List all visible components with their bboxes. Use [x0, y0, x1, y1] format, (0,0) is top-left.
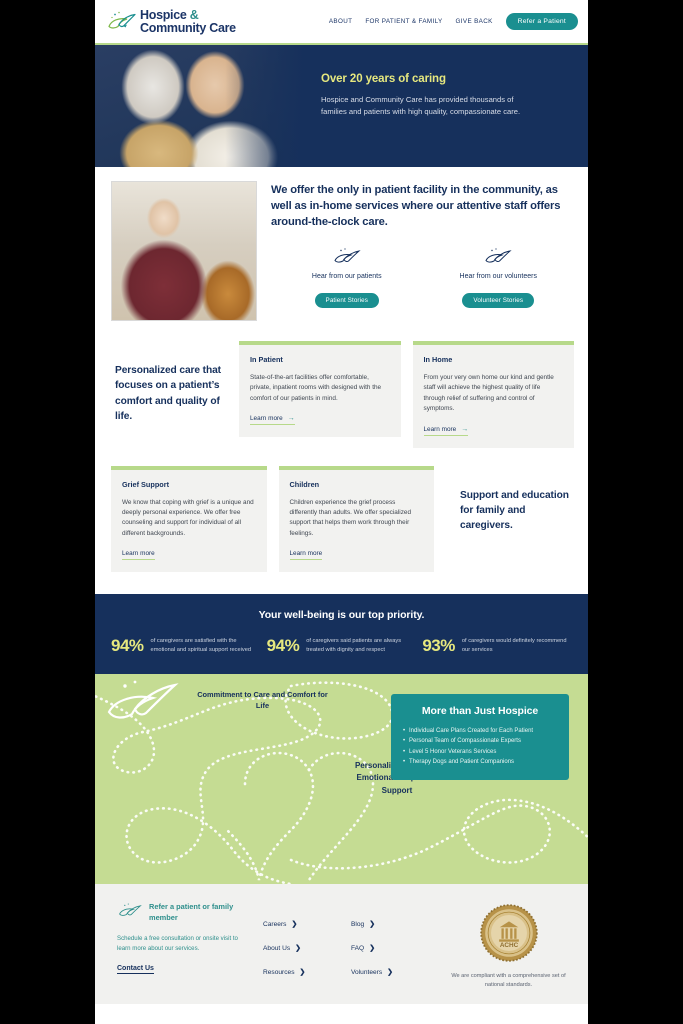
hero-text: Over 20 years of caring Hospice and Comm…	[305, 45, 549, 167]
stat-text: of caregivers would definitely recommend…	[462, 637, 572, 655]
hero-title: Over 20 years of caring	[321, 73, 531, 85]
more-box-item: Personal Team of Compassionate Experts	[403, 736, 557, 746]
stories-cta-row: Hear from our patients Patient Stories H…	[271, 247, 574, 308]
card-in-patient[interactable]: In Patient State-of-the-art facilities o…	[239, 341, 401, 437]
seal-text: ACHC	[499, 942, 518, 949]
hero-banner: Over 20 years of caring Hospice and Comm…	[95, 45, 588, 167]
hero-photo	[95, 45, 305, 167]
patient-stories-label: Hear from our patients	[271, 272, 423, 282]
card-title: In Home	[424, 355, 564, 364]
learn-more-label: Learn more	[250, 415, 283, 422]
main-nav: ABOUT FOR PATIENT & FAMILY GIVE BACK Ref…	[329, 13, 578, 30]
chevron-right-icon: ❯	[387, 968, 393, 976]
footer-refer-block: Refer a patient or family member Schedul…	[117, 902, 253, 1004]
stat-item: 94% of caregivers are satisfied with the…	[111, 636, 261, 656]
learn-more-link[interactable]: Learn more	[122, 550, 155, 560]
more-box-item: Individual Care Plans Created for Each P…	[403, 726, 557, 736]
footer-refer-header: Refer a patient or family member	[117, 902, 253, 925]
offer-section: We offer the only in patient facility in…	[95, 167, 588, 341]
achc-accreditation-seal: ACHC	[480, 904, 538, 962]
learn-more-label: Learn more	[424, 426, 457, 433]
more-box-list: Individual Care Plans Created for Each P…	[403, 726, 557, 767]
footer-refer-subtext: Schedule a free consultation or onsite v…	[117, 934, 253, 954]
learn-more-label: Learn more	[122, 550, 155, 557]
services-heading-wrap: Personalized care that focuses on a pati…	[111, 341, 239, 424]
bird-swoosh-icon	[423, 247, 575, 267]
learn-more-link[interactable]: Learn more	[290, 550, 323, 560]
nav-for-patient-family[interactable]: FOR PATIENT & FAMILY	[365, 18, 442, 25]
footer-link-faq[interactable]: FAQ ❯	[351, 944, 433, 952]
more-box-item: Level 5 Honor Veterans Services	[403, 747, 557, 757]
footer-link-volunteers[interactable]: Volunteers ❯	[351, 968, 433, 976]
card-grief-support[interactable]: Grief Support We know that coping with g…	[111, 466, 267, 573]
footer-link-label: FAQ	[351, 945, 364, 952]
stat-value: 93%	[422, 636, 455, 656]
site-header: Hospice & Community Care ABOUT FOR PATIE…	[95, 0, 588, 45]
footer-links-column-2: Blog ❯ FAQ ❯ Volunteers ❯	[351, 902, 433, 1004]
stats-band: Your well-being is our top priority. 94%…	[95, 594, 588, 674]
volunteer-stories-button[interactable]: Volunteer Stories	[462, 293, 534, 308]
stat-text: of caregivers said patients are always t…	[306, 637, 416, 655]
chevron-right-icon: ❯	[291, 920, 297, 928]
card-title: Children	[290, 480, 424, 489]
card-children[interactable]: Children Children experience the grief p…	[279, 466, 435, 573]
stats-row: 94% of caregivers are satisfied with the…	[111, 636, 572, 656]
footer-links-column-1: Careers ❯ About Us ❯ Resources ❯	[263, 902, 341, 1004]
more-than-just-hospice-box: More than Just Hospice Individual Care P…	[391, 694, 569, 780]
stat-text: of caregivers are satisfied with the emo…	[151, 637, 261, 655]
stat-value: 94%	[111, 636, 144, 656]
site-footer: Refer a patient or family member Schedul…	[95, 884, 588, 1004]
more-box-item: Therapy Dogs and Patient Companions	[403, 757, 557, 767]
site-logo[interactable]: Hospice & Community Care	[107, 9, 236, 35]
nav-about[interactable]: ABOUT	[329, 18, 352, 25]
more-box-title: More than Just Hospice	[403, 705, 557, 717]
white-bird-swoosh-icon	[109, 681, 175, 718]
card-title: Grief Support	[122, 480, 256, 489]
chevron-right-icon: ❯	[295, 944, 301, 952]
green-promo-section: Commitment to Care and Comfort for Life …	[95, 674, 588, 884]
offer-content: We offer the only in patient facility in…	[271, 181, 574, 321]
stat-item: 94% of caregivers said patients are alwa…	[267, 636, 417, 656]
learn-more-link[interactable]: Learn more →	[424, 426, 469, 436]
arrow-right-icon: →	[461, 426, 468, 433]
bird-swoosh-icon	[117, 902, 143, 925]
learn-more-label: Learn more	[290, 550, 323, 557]
card-body: State-of-the-art facilities offer comfor…	[250, 373, 390, 404]
footer-link-label: Blog	[351, 921, 364, 928]
footer-seal-block: ACHC We are compliant with a comprehensi…	[443, 902, 574, 1004]
support-section: Grief Support We know that coping with g…	[95, 466, 588, 573]
learn-more-link[interactable]: Learn more →	[250, 415, 295, 425]
patient-stories-block: Hear from our patients Patient Stories	[271, 247, 423, 308]
seal-caption: We are compliant with a comprehensive se…	[443, 972, 574, 990]
page-root: Hospice & Community Care ABOUT FOR PATIE…	[95, 0, 588, 1024]
commitment-label: Commitment to Care and Comfort for Life	[195, 690, 330, 711]
support-heading: Support and education for family and car…	[460, 488, 574, 534]
footer-link-about-us[interactable]: About Us ❯	[263, 944, 341, 952]
footer-link-label: Resources	[263, 969, 295, 976]
offer-heading: We offer the only in patient facility in…	[271, 183, 574, 231]
chevron-right-icon: ❯	[369, 920, 375, 928]
footer-link-careers[interactable]: Careers ❯	[263, 920, 341, 928]
logo-line-2: Community Care	[140, 22, 236, 35]
volunteer-stories-block: Hear from our volunteers Volunteer Stori…	[423, 247, 575, 308]
logo-wordmark: Hospice & Community Care	[140, 9, 236, 35]
services-heading: Personalized care that focuses on a pati…	[115, 363, 227, 424]
contact-us-link[interactable]: Contact Us	[117, 965, 154, 974]
refer-a-patient-button[interactable]: Refer a Patient	[506, 13, 578, 30]
arrow-right-icon: →	[288, 415, 295, 422]
logo-ampersand: &	[190, 8, 199, 22]
card-title: In Patient	[250, 355, 390, 364]
bird-swoosh-icon	[271, 247, 423, 267]
support-heading-wrap: Support and education for family and car…	[446, 466, 574, 534]
footer-link-resources[interactable]: Resources ❯	[263, 968, 341, 976]
stat-item: 93% of caregivers would definitely recom…	[422, 636, 572, 656]
patient-stories-button[interactable]: Patient Stories	[315, 293, 379, 308]
services-section: Personalized care that focuses on a pati…	[95, 341, 588, 448]
card-body: We know that coping with grief is a uniq…	[122, 498, 256, 540]
footer-link-label: About Us	[263, 945, 290, 952]
card-in-home[interactable]: In Home From your very own home our kind…	[413, 341, 575, 448]
footer-refer-title: Refer a patient or family member	[149, 902, 253, 923]
bird-swoosh-logo-icon	[107, 9, 137, 35]
card-body: From your very own home our kind and gen…	[424, 373, 564, 415]
card-body: Children experience the grief process di…	[290, 498, 424, 540]
offer-photo	[111, 181, 257, 321]
footer-link-label: Volunteers	[351, 969, 382, 976]
stats-title: Your well-being is our top priority.	[111, 609, 572, 621]
footer-link-blog[interactable]: Blog ❯	[351, 920, 433, 928]
volunteer-stories-label: Hear from our volunteers	[423, 272, 575, 282]
stat-value: 94%	[267, 636, 300, 656]
footer-link-label: Careers	[263, 921, 286, 928]
nav-give-back[interactable]: GIVE BACK	[456, 18, 493, 25]
hero-body: Hospice and Community Care has provided …	[321, 94, 531, 119]
chevron-right-icon: ❯	[300, 968, 306, 976]
logo-line-1: Hospice	[140, 8, 187, 22]
chevron-right-icon: ❯	[369, 944, 375, 952]
